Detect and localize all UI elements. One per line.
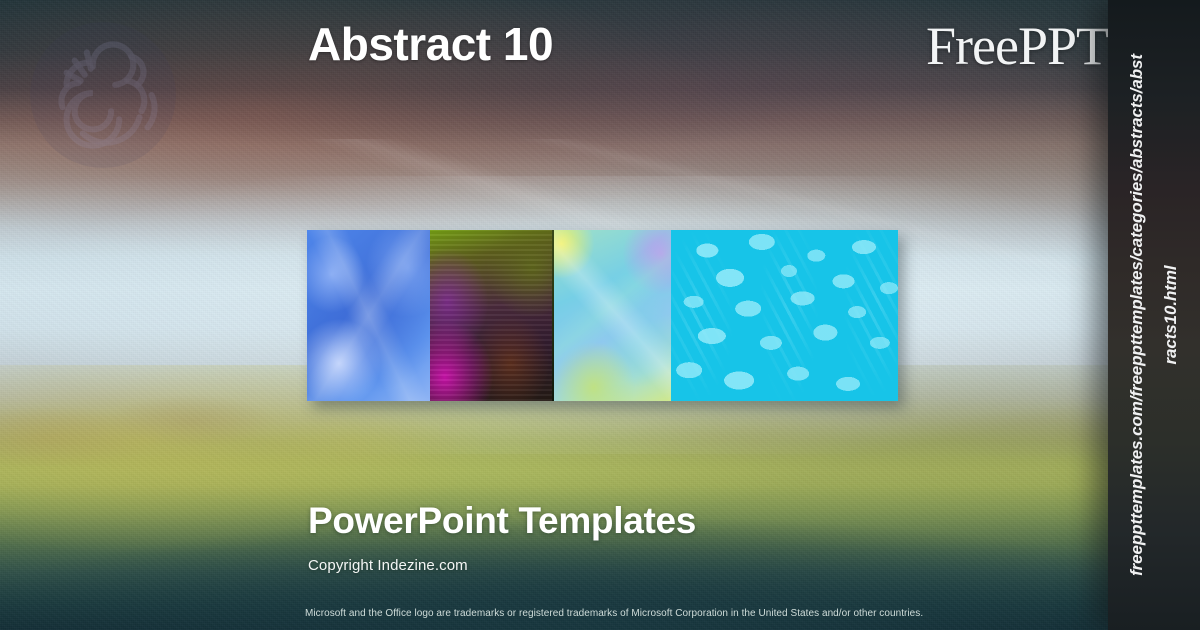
trademark-disclaimer: Microsoft and the Office logo are tradem… [305,608,923,619]
template-thumbnail-strip [307,230,898,401]
thumbnail-magenta-olive[interactable] [430,230,552,401]
background-wash-bottom [0,365,1200,630]
thumbnail-pastel-gradient[interactable] [554,230,671,401]
thumbnail-cyan-dots[interactable] [671,230,898,401]
vertical-url[interactable]: freeppttemplates.com/freeppttemplates/ca… [1108,0,1200,630]
page-subtitle: PowerPoint Templates [308,500,696,542]
copyright-text: Copyright Indezine.com [308,557,468,574]
vertical-url-line-2: racts10.html [1161,266,1181,365]
thumbnail-blue-radial[interactable] [307,230,430,401]
freeppt-logo: FreePPT [926,15,1108,77]
cyan-dot-pattern [671,230,898,401]
vertical-url-line-1: freeppttemplates.com/freeppttemplates/ca… [1127,54,1147,576]
page-title: Abstract 10 [308,17,553,71]
poster-canvas: Abstract 10 FreePPT PowerPoint Templates… [0,0,1200,630]
